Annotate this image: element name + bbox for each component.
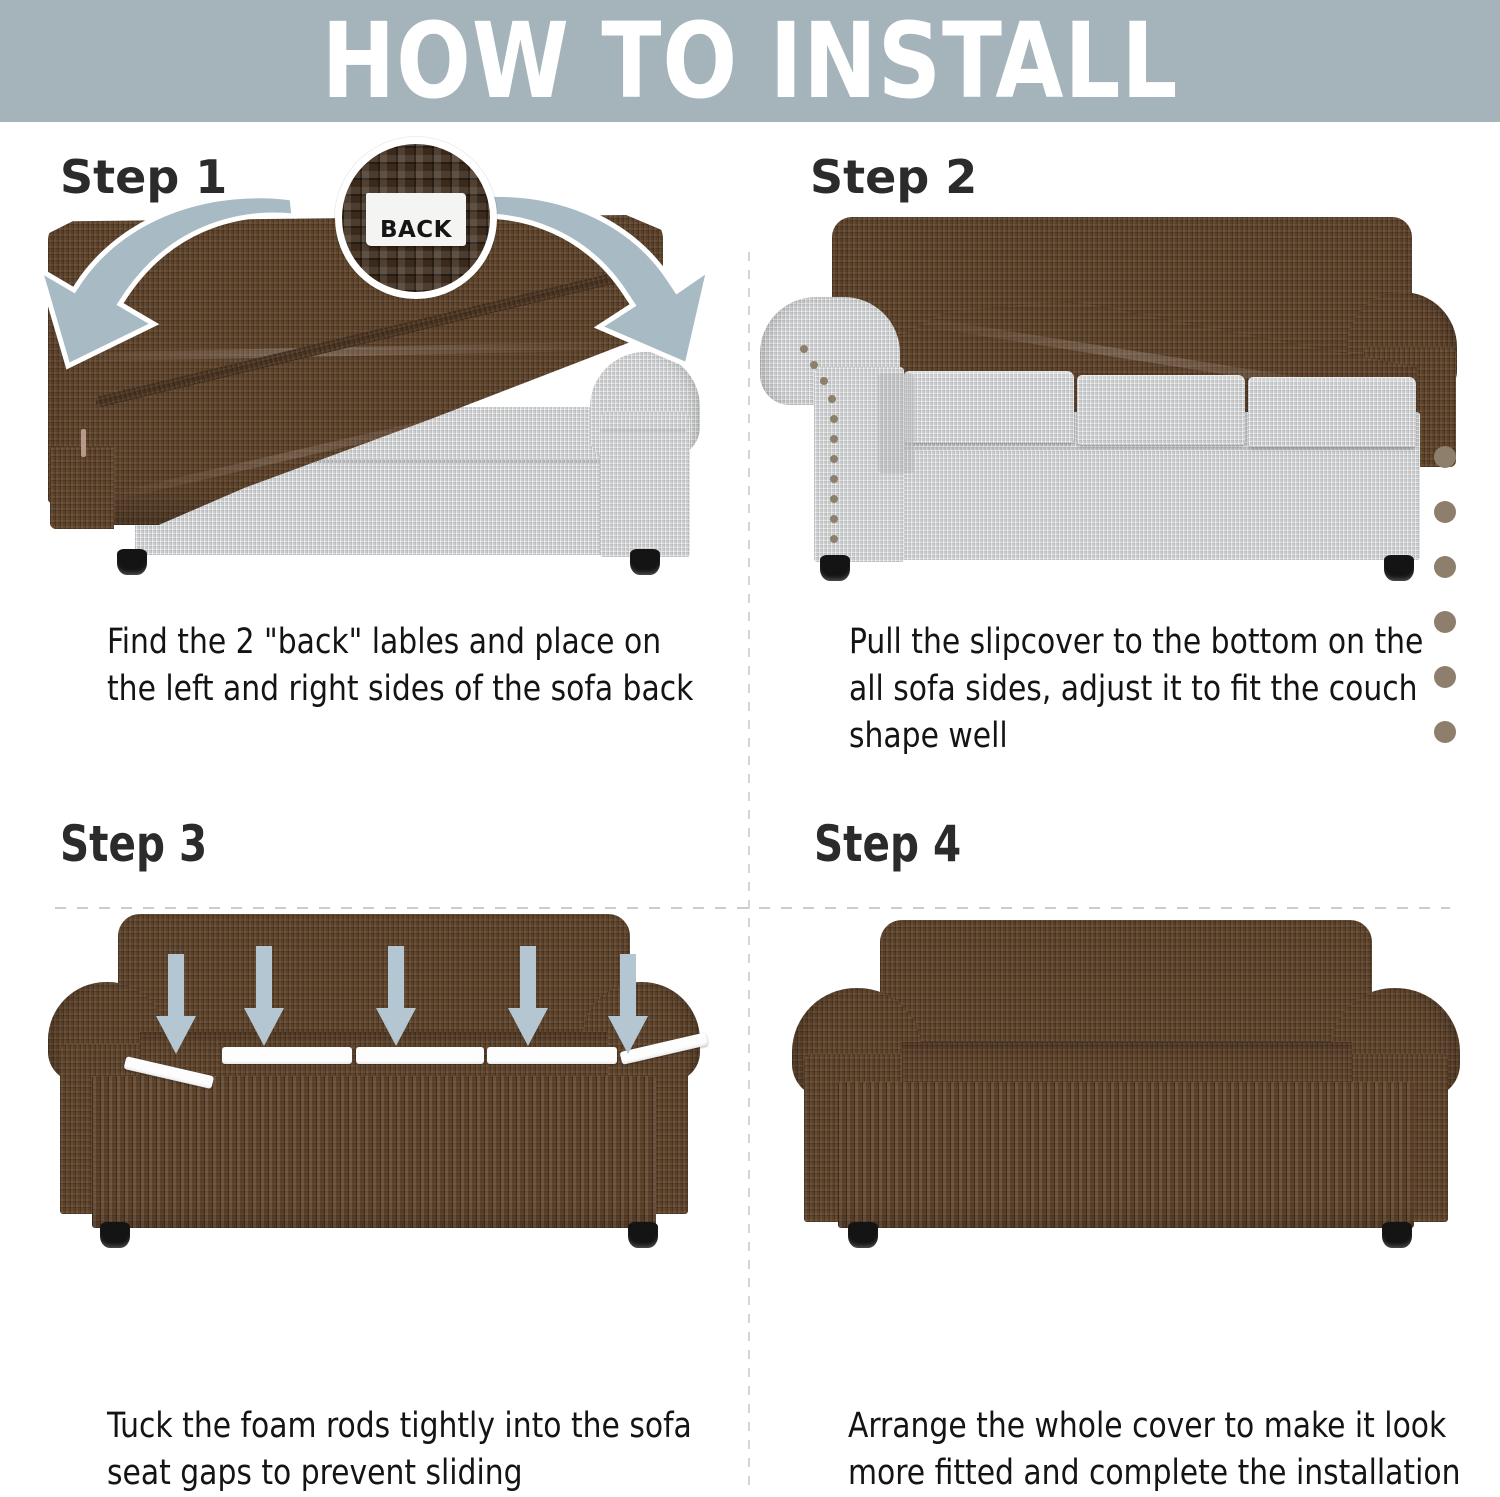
step-3-caption: Tuck the foam rods tightly into the sofa… bbox=[107, 1403, 702, 1497]
sofa-right-arm-post bbox=[600, 412, 690, 557]
step-4-caption-line-2: more fitted and complete the installatio… bbox=[848, 1450, 1462, 1497]
step-2-caption-line-2: all sofa sides, adjust it to fit the cou… bbox=[849, 666, 1463, 713]
back-label-callout: BACK bbox=[335, 137, 497, 299]
step-4-label: Step 4 bbox=[814, 815, 961, 873]
seat-cushion bbox=[904, 371, 1074, 443]
sofa-foot-left bbox=[820, 555, 850, 581]
seat-cushion bbox=[1077, 375, 1245, 445]
step-3-caption-line-1: Tuck the foam rods tightly into the sofa bbox=[107, 1403, 702, 1450]
back-label-tag: BACK bbox=[366, 193, 467, 246]
nailhead-trim-left-icon bbox=[776, 325, 896, 565]
step-2-caption-line-1: Pull the slipcover to the bottom on the bbox=[849, 619, 1463, 666]
arrow-down-icon bbox=[372, 946, 420, 1051]
step-4-cell: Step 4 Arrange the whole cover to make i… bbox=[752, 789, 1500, 1433]
back-label-text: BACK bbox=[380, 217, 452, 246]
sofa-foot-right bbox=[1384, 555, 1414, 581]
step-1-caption-line-1: Find the 2 "back" lables and place on bbox=[107, 619, 702, 666]
step-3-cell: Step 3 bbox=[0, 789, 748, 1433]
slipcover-skirt bbox=[92, 1076, 656, 1228]
step-2-label: Step 2 bbox=[810, 150, 977, 204]
slipcover-backrest bbox=[880, 920, 1372, 1060]
vertical-divider bbox=[748, 252, 750, 1487]
step-3-illustration bbox=[0, 904, 748, 1334]
arrow-down-left-icon bbox=[10, 182, 300, 402]
sofa-foot-right bbox=[628, 1222, 658, 1248]
step-2-illustration bbox=[752, 197, 1500, 592]
step-3-label: Step 3 bbox=[60, 815, 207, 873]
step-2-cell: Step 2 bbox=[752, 122, 1500, 785]
step-1-illustration: BACK bbox=[0, 197, 748, 592]
slipcover-left-hem-tail bbox=[50, 447, 114, 529]
step-2-caption: Pull the slipcover to the bottom on the … bbox=[849, 619, 1463, 760]
arrow-down-icon bbox=[152, 954, 200, 1059]
sofa-foot-right bbox=[630, 549, 660, 575]
arrow-down-icon bbox=[604, 954, 652, 1059]
sofa-foot-left bbox=[100, 1222, 130, 1248]
step-1-caption: Find the 2 "back" lables and place on th… bbox=[107, 619, 702, 713]
slipcover-left-zip-pull bbox=[81, 429, 86, 457]
page-title: HOW TO INSTALL bbox=[45, 0, 1455, 122]
arrow-down-icon bbox=[504, 946, 552, 1051]
sofa-right-arm-inner-shadow bbox=[600, 429, 686, 432]
sofa-foot-right bbox=[1382, 1222, 1412, 1248]
header-banner: HOW TO INSTALL bbox=[0, 0, 1500, 122]
step-1-caption-line-2: the left and right sides of the sofa bac… bbox=[107, 666, 702, 713]
sofa-foot-left bbox=[117, 549, 147, 575]
step-2-caption-line-3: shape well bbox=[849, 713, 1463, 760]
steps-grid: Step 1 bbox=[0, 122, 1500, 1433]
arrow-down-icon bbox=[240, 946, 288, 1051]
step-4-illustration bbox=[752, 904, 1500, 1334]
slipcover-skirt bbox=[838, 1082, 1414, 1228]
step-1-cell: Step 1 bbox=[0, 122, 748, 785]
step-4-caption-line-1: Arrange the whole cover to make it look bbox=[848, 1403, 1462, 1450]
step-3-caption-line-2: seat gaps to prevent sliding bbox=[107, 1450, 702, 1497]
step-4-caption: Arrange the whole cover to make it look … bbox=[848, 1403, 1462, 1497]
sofa-base-seam bbox=[837, 447, 1413, 450]
sofa-foot-left bbox=[848, 1222, 878, 1248]
